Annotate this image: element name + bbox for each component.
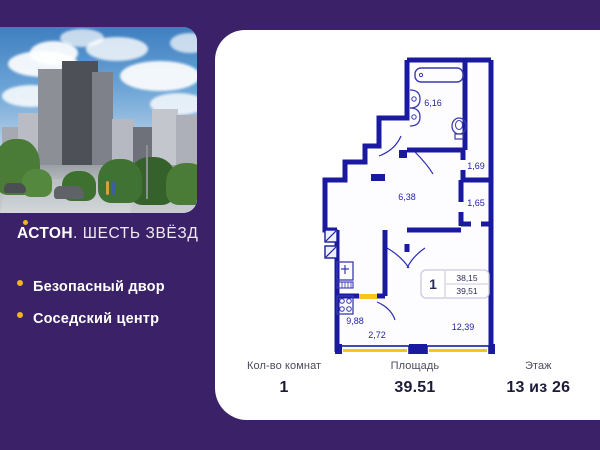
brand-subname: . ШЕСТЬ ЗВЁЗД	[73, 225, 199, 242]
feature-bullet-community-center: Соседский центр	[17, 310, 159, 328]
summary-label-floor: Этаж	[477, 360, 600, 372]
room-area-hallway: 6,38	[398, 192, 416, 202]
exterior-windows	[335, 344, 495, 354]
bullet-dot-icon	[17, 280, 23, 286]
car	[54, 186, 84, 199]
summary-rooms: Кол-во комнат 1	[215, 360, 353, 397]
pedestrian	[106, 181, 109, 195]
apartment-info-badge: 1 38,15 39,51	[421, 270, 489, 298]
room-area-kitchen: 9,88	[346, 316, 364, 326]
floorplan-card: 6,16 1,69 1,65	[215, 30, 600, 420]
brand-name: АСТОН	[17, 225, 73, 242]
room-area-storage-upper: 1,69	[467, 161, 485, 171]
logo-accent-dot-icon	[23, 220, 28, 225]
building-photo	[0, 27, 197, 213]
interior-window	[359, 294, 377, 299]
summary-label-rooms: Кол-во комнат	[215, 360, 353, 372]
tree	[98, 159, 142, 203]
badge-room-count: 1	[429, 276, 437, 292]
summary-value-floor: 13 из 26	[477, 379, 600, 397]
cloud	[120, 61, 197, 91]
pedestrian	[112, 181, 115, 195]
summary-area: Площадь 39.51	[353, 360, 476, 397]
cloud	[60, 29, 104, 47]
feature-bullet-safe-yard: Безопасный двор	[17, 278, 165, 296]
feature-label: Соседский центр	[33, 311, 159, 327]
feature-label: Безопасный двор	[33, 279, 165, 295]
door-jamb	[399, 150, 407, 158]
summary-value-rooms: 1	[215, 379, 353, 397]
room-area-storage-lower: 1,65	[467, 198, 485, 208]
door-jamb	[371, 174, 385, 181]
badge-living-area: 38,15	[456, 273, 478, 283]
floorplan-drawing[interactable]: 6,16 1,69 1,65	[315, 52, 505, 354]
lamp-post	[146, 145, 148, 199]
promo-panel: АСТОН. ШЕСТЬ ЗВЁЗД Безопасный двор Сосед…	[0, 0, 215, 450]
tree	[22, 169, 52, 197]
bullet-dot-icon	[17, 312, 23, 318]
apartment-summary: Кол-во комнат 1 Площадь 39.51 Этаж 13 из…	[215, 360, 600, 397]
car	[4, 183, 26, 193]
badge-total-area: 39,51	[456, 286, 478, 296]
room-area-living-room: 12,39	[452, 322, 475, 332]
room-living-room: 12,39	[452, 322, 475, 332]
summary-floor: Этаж 13 из 26	[477, 360, 600, 397]
summary-value-area: 39.51	[353, 379, 476, 397]
summary-label-area: Площадь	[353, 360, 476, 372]
room-area-bathroom: 6,16	[424, 98, 442, 108]
tree	[166, 163, 197, 205]
floorplan-container[interactable]: 6,16 1,69 1,65	[315, 52, 505, 354]
brand-logo: АСТОН. ШЕСТЬ ЗВЁЗД	[17, 225, 198, 243]
room-area-entry-hall: 2,72	[368, 330, 386, 340]
